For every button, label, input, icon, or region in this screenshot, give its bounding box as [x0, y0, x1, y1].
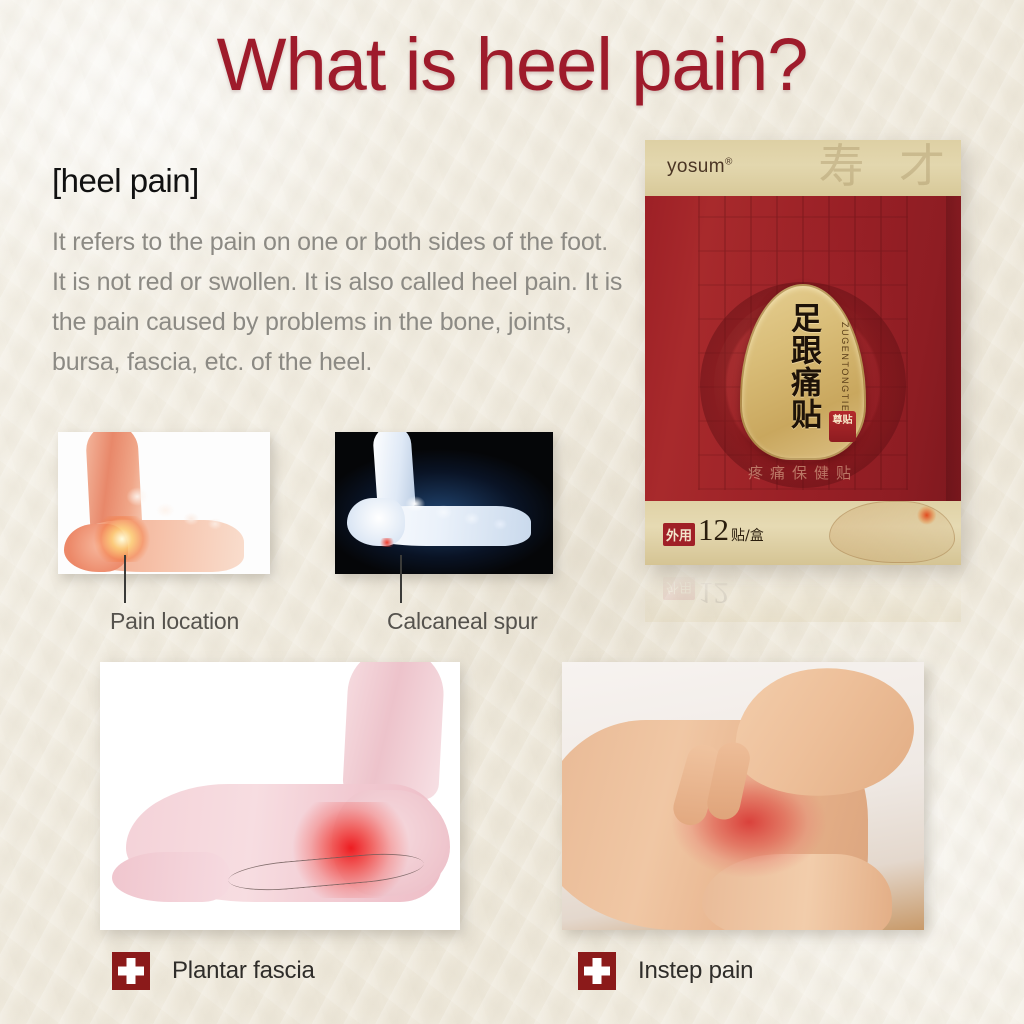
package-watermark: 寿 才: [818, 140, 955, 196]
pain-glow-icon: [94, 516, 150, 562]
caption-calcaneal-spur: Calcaneal spur: [387, 608, 538, 635]
plantar-leg-icon: [342, 662, 446, 800]
figure-pain-location: [58, 432, 270, 574]
leader-line-calcaneal-spur: [400, 555, 402, 603]
package-bottom-band: 外用 12 贴/盒: [645, 501, 961, 565]
definition-heading: [heel pain]: [52, 160, 199, 202]
figure-instep-pain: [562, 662, 924, 930]
caption-pain-location: Pain location: [110, 608, 239, 635]
package-count-unit: 贴/盒: [731, 525, 764, 545]
registered-mark-icon: ®: [725, 157, 733, 168]
brand-name: yosum®: [667, 156, 733, 178]
reflection-count: 12: [698, 578, 729, 608]
package-foot-icon: [829, 501, 955, 563]
leader-line-pain-location: [124, 555, 126, 603]
reflection-dosage: 外用 12: [663, 577, 729, 608]
product-name-cn: 足跟痛贴: [786, 302, 820, 430]
product-package: 寿 才 yosum® 足跟痛贴 ZUGENTONGTIE 尊贴 疼痛保健贴 外用…: [645, 140, 961, 565]
package-count: 12: [698, 515, 729, 545]
xray-heel-icon: [347, 498, 405, 546]
legend-plantar-fascia: Plantar fascia: [112, 952, 315, 990]
package-side-panel: [946, 196, 961, 501]
page-title: What is heel pain?: [0, 22, 1024, 108]
xray-bones-icon: [401, 492, 519, 538]
product-name-pinyin: ZUGENTONGTIE: [840, 322, 850, 413]
reflection-usage-tag: 外用: [663, 577, 695, 600]
medical-cross-icon: [578, 952, 616, 990]
legend-instep-pain: Instep pain: [578, 952, 753, 990]
package-dosage: 外用 12 贴/盒: [663, 515, 764, 546]
product-tagline: 疼痛保健贴: [748, 462, 858, 483]
package-reflection: 外用 12: [645, 566, 961, 622]
usage-tag: 外用: [663, 523, 695, 546]
brand-text: yosum: [667, 156, 725, 177]
medical-cross-icon: [112, 952, 150, 990]
figure-calcaneal-spur: [335, 432, 553, 574]
package-front: 足跟痛贴 ZUGENTONGTIE 尊贴 疼痛保健贴: [645, 196, 961, 501]
definition-body: It refers to the pain on one or both sid…: [52, 222, 627, 382]
plantar-toes-icon: [112, 852, 230, 902]
package-top-band: 寿 才 yosum®: [645, 140, 961, 196]
infographic-page: What is heel pain? [heel pain] It refers…: [0, 0, 1024, 1024]
product-seal: 尊贴: [829, 411, 856, 442]
spur-marker-icon: [379, 538, 395, 547]
figure-plantar-fascia: [100, 662, 460, 930]
legend-label-plantar-fascia: Plantar fascia: [172, 957, 315, 985]
legend-label-instep-pain: Instep pain: [638, 957, 753, 985]
